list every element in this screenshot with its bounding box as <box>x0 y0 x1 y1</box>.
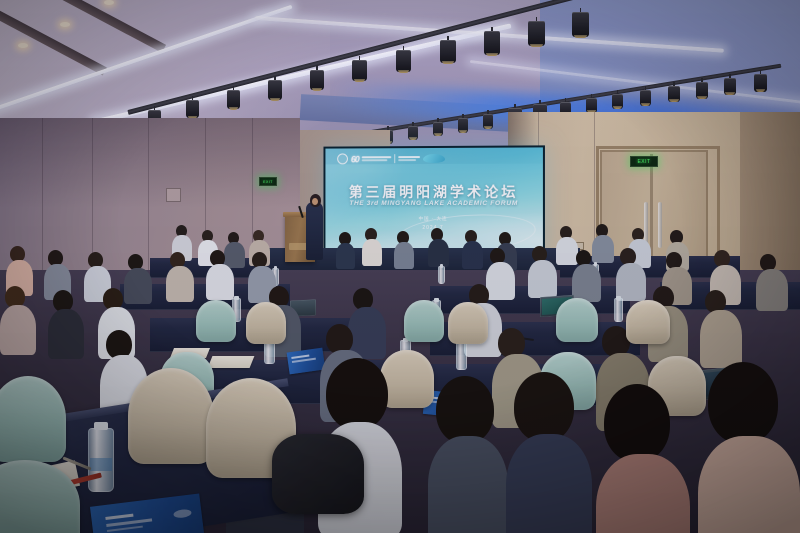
water-bottle <box>456 342 467 370</box>
stage-light <box>433 118 443 135</box>
stage-light <box>696 78 708 98</box>
banquet-chair <box>246 302 286 344</box>
banquet-chair <box>404 300 444 342</box>
stage-light <box>227 86 240 109</box>
stage-light <box>352 56 367 81</box>
water-bottle <box>614 298 623 322</box>
speaker-person <box>306 202 323 260</box>
banquet-chair <box>626 300 670 344</box>
backpack <box>272 434 364 514</box>
notepad <box>208 356 255 368</box>
stage-light <box>572 8 589 37</box>
conference-hall-photo: EXIT EXIT 60 <box>0 0 800 533</box>
stage-light <box>528 17 545 46</box>
stage-light <box>612 90 623 108</box>
stage-light <box>310 66 324 90</box>
exit-sign-left: EXIT <box>259 177 277 186</box>
banquet-chair <box>448 302 488 344</box>
stage-light <box>483 110 493 128</box>
speaker-face <box>312 198 318 205</box>
stage-light <box>754 70 767 91</box>
exit-sign-label: EXIT <box>263 180 273 184</box>
water-bottle <box>438 266 445 284</box>
stage-light <box>458 114 468 132</box>
banquet-chair <box>196 300 236 342</box>
stage-light <box>186 96 199 118</box>
banquet-chair-foreground <box>128 368 214 464</box>
exit-sign-right: EXIT <box>630 156 658 167</box>
banquet-chair <box>556 298 598 342</box>
stage-light <box>396 46 411 72</box>
banquet-chair <box>380 350 434 408</box>
beam-downlight-3 <box>104 0 114 5</box>
stage-light <box>668 82 680 101</box>
water-bottle-foreground <box>88 428 114 492</box>
beam-downlight-2 <box>60 22 70 27</box>
wall-control-panel <box>166 188 181 202</box>
stage-light <box>408 122 418 139</box>
beam-downlight-1 <box>18 43 28 48</box>
stage-light <box>484 27 500 55</box>
stage-light <box>640 86 651 105</box>
exit-sign-label: EXIT <box>637 159 650 165</box>
stage-light <box>724 74 736 94</box>
stage-light <box>268 76 282 100</box>
stage-light <box>586 94 597 112</box>
stage-light <box>440 36 456 63</box>
